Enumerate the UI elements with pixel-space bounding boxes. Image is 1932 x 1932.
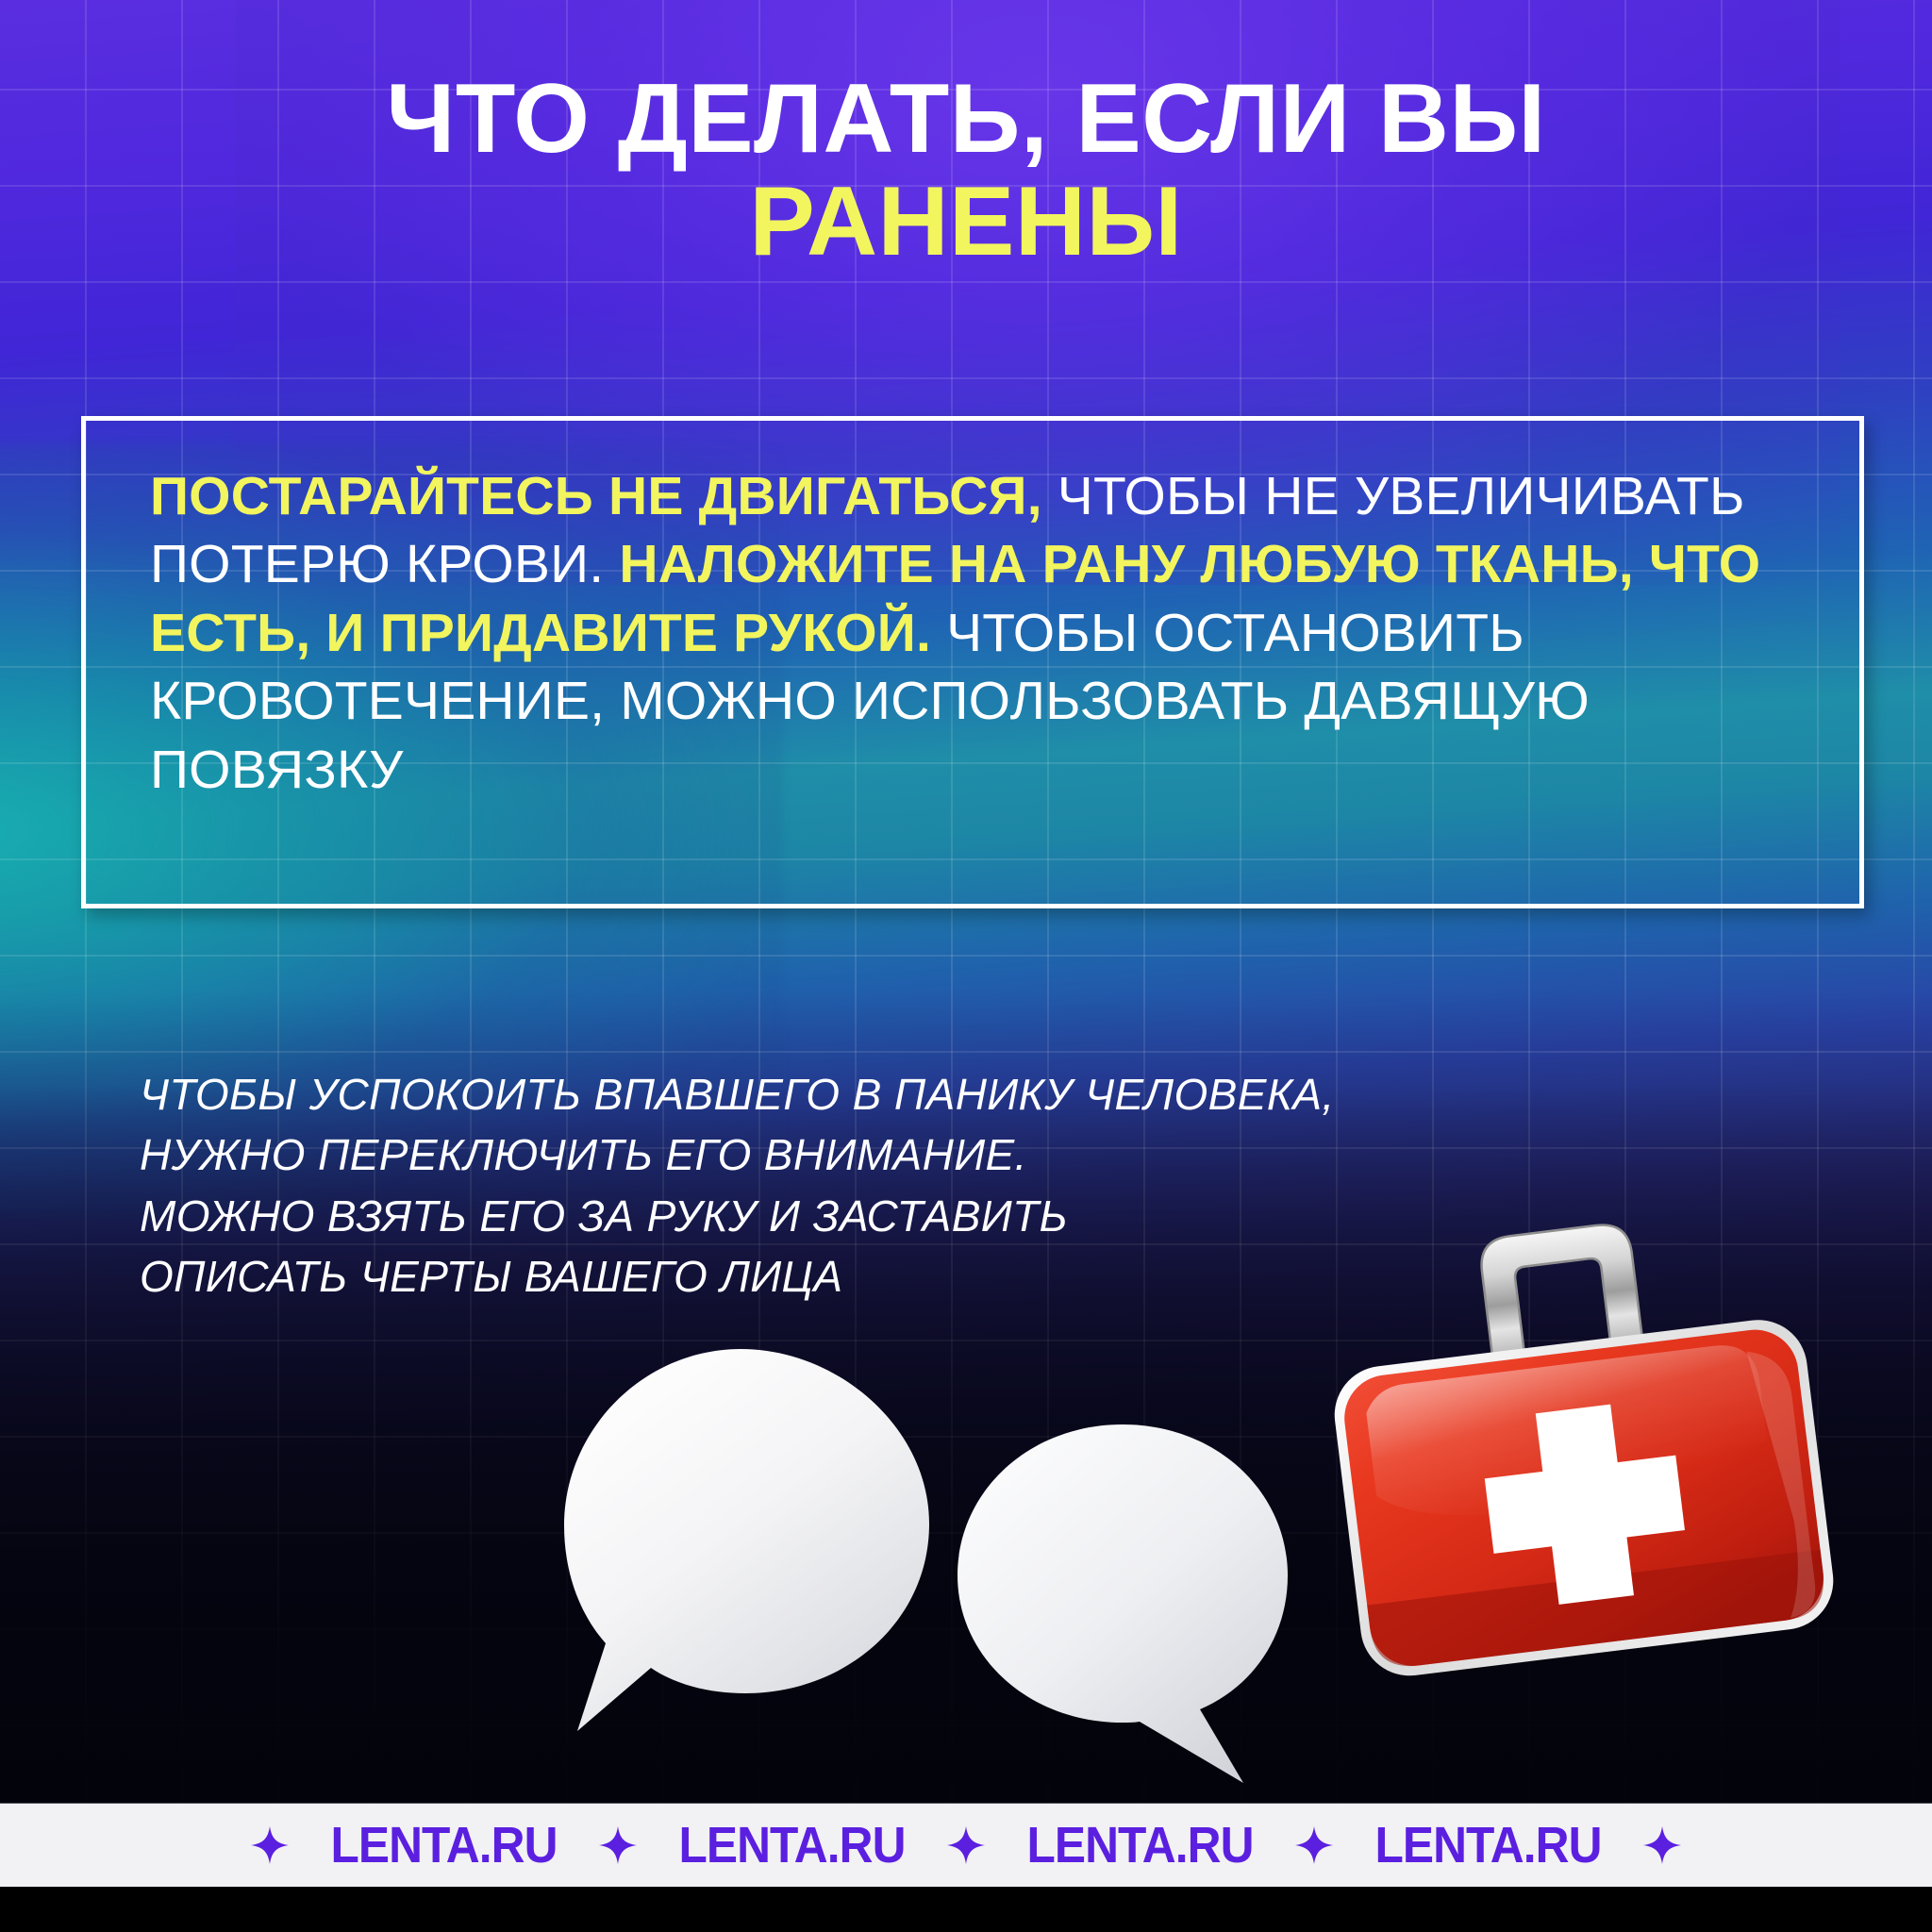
page-title: ЧТО ДЕЛАТЬ, ЕСЛИ ВЫ РАНЕНЫ — [0, 68, 1932, 274]
infographic-canvas: ЧТО ДЕЛАТЬ, ЕСЛИ ВЫ РАНЕНЫ ПОСТАРАЙТЕСЬ … — [0, 0, 1932, 1932]
note-line-1: ЧТОБЫ УСПОКОИТЬ ВПАВШЕГО В ПАНИКУ ЧЕЛОВЕ… — [140, 1064, 1611, 1124]
sparkle-icon — [1295, 1826, 1333, 1864]
brand-label-4[interactable]: LENTA.RU — [1374, 1816, 1601, 1874]
sparkle-icon — [1643, 1826, 1681, 1864]
footer-black-strip — [0, 1887, 1932, 1932]
callout-text: ПОСТАРАЙТЕСЬ НЕ ДВИГАТЬСЯ, ЧТОБЫ НЕ УВЕЛ… — [150, 462, 1831, 804]
brand-label-2[interactable]: LENTA.RU — [678, 1816, 905, 1874]
callout-emphasis-1: ПОСТАРАЙТЕСЬ НЕ ДВИГАТЬСЯ, — [150, 466, 1042, 526]
speech-bubble-small — [958, 1424, 1288, 1783]
speech-bubbles-group — [557, 1340, 1406, 1811]
sparkle-icon — [599, 1826, 637, 1864]
note-line-3: МОЖНО ВЗЯТЬ ЕГО ЗА РУКУ И ЗАСТАВИТЬ — [140, 1186, 1611, 1246]
brand-label-1[interactable]: LENTA.RU — [330, 1816, 557, 1874]
sparkle-icon — [251, 1826, 289, 1864]
note-line-4: ОПИСАТЬ ЧЕРТЫ ВАШЕГО ЛИЦА — [140, 1246, 1611, 1307]
advice-note: ЧТОБЫ УСПОКОИТЬ ВПАВШЕГО В ПАНИКУ ЧЕЛОВЕ… — [140, 1064, 1611, 1307]
brand-label-3[interactable]: LENTA.RU — [1026, 1816, 1253, 1874]
speech-bubble-large — [564, 1349, 929, 1731]
sparkle-icon — [947, 1826, 985, 1864]
title-line-1: ЧТО ДЕЛАТЬ, ЕСЛИ ВЫ — [0, 68, 1932, 171]
callout-box: ПОСТАРАЙТЕСЬ НЕ ДВИГАТЬСЯ, ЧТОБЫ НЕ УВЕЛ… — [81, 416, 1864, 908]
note-line-2: НУЖНО ПЕРЕКЛЮЧИТЬ ЕГО ВНИМАНИЕ. — [140, 1124, 1611, 1185]
title-line-2: РАНЕНЫ — [0, 171, 1932, 274]
footer-brand-bar: LENTA.RU LENTA.RU LENTA.RU LENTA.RU — [0, 1804, 1932, 1887]
